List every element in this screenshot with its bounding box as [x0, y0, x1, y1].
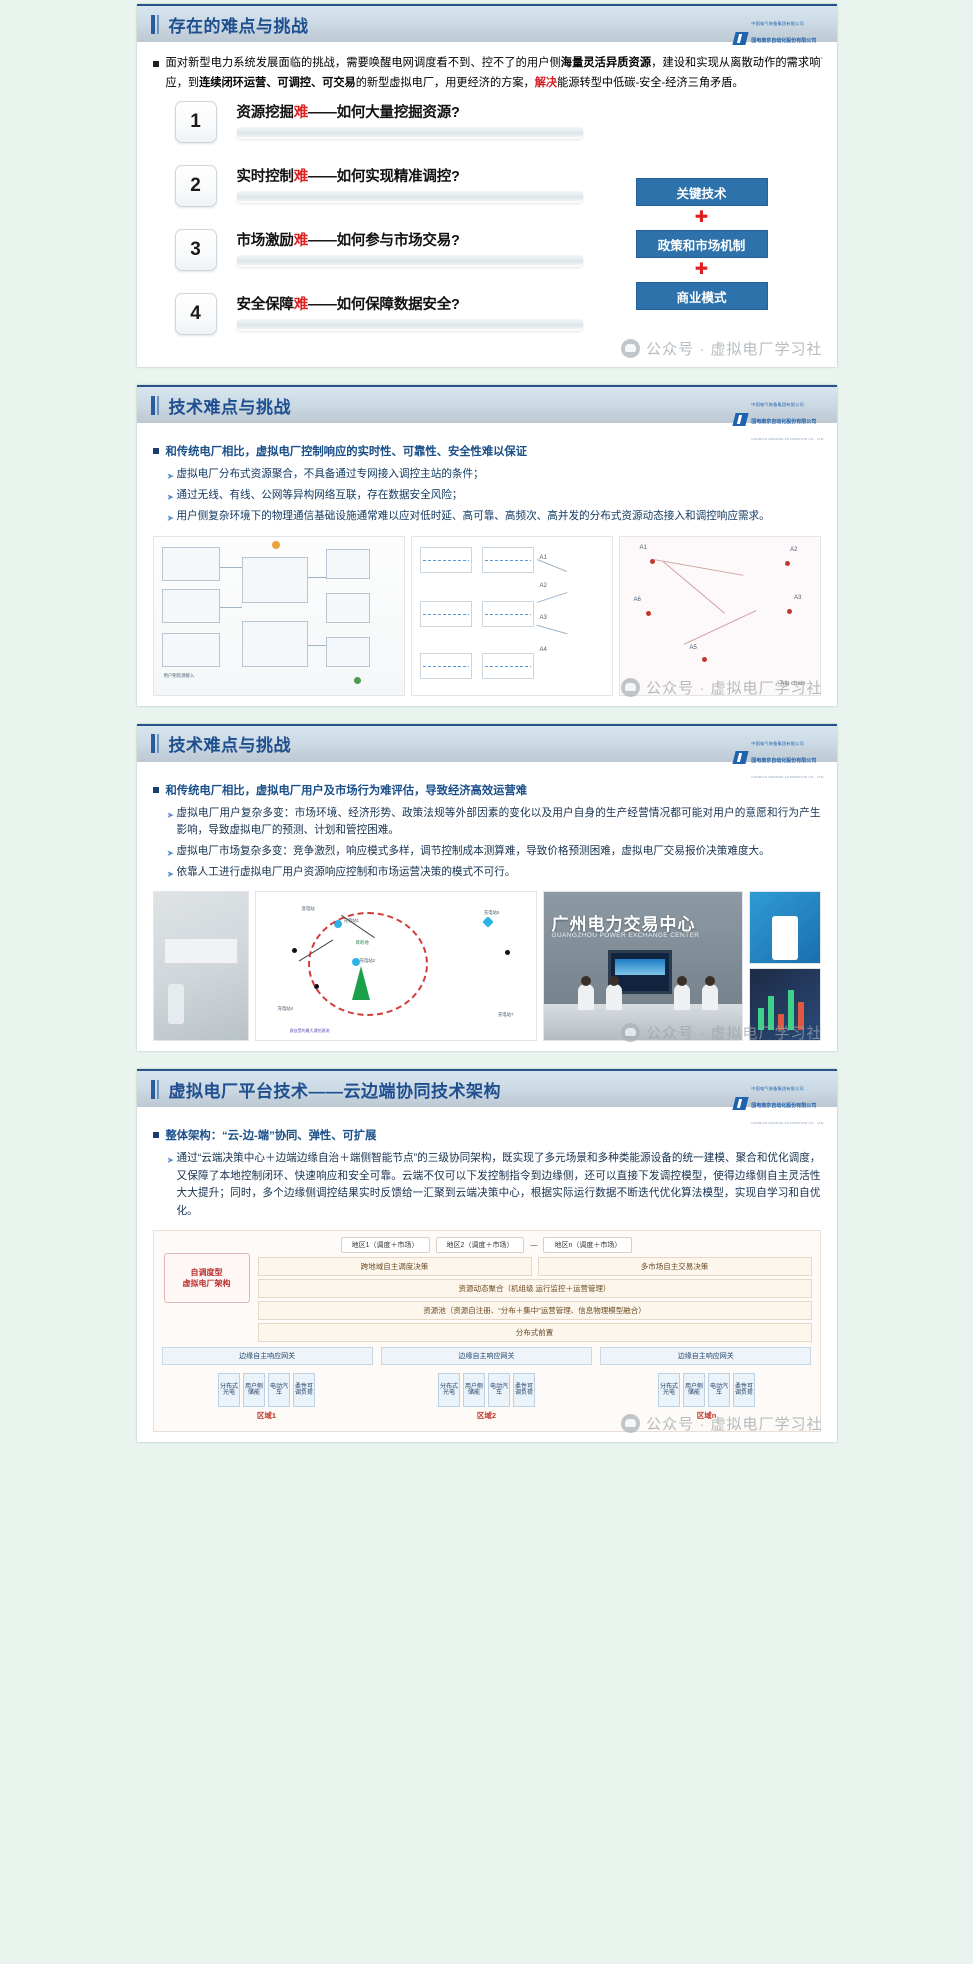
gz-subtitle-text: GUANGZHOU POWER EXCHANGE CENTER	[552, 932, 700, 939]
photo-air-conditioner	[153, 891, 249, 1041]
logo-line-1: 中国电气装备集团有限公司	[751, 21, 804, 26]
bullet-item: ➤ 虚拟电厂用户复杂多变：市场环境、经济形势、政策法规等外部因素的变化以及用户自…	[167, 805, 821, 840]
architecture-gateways: 边缘自主响应网关 边缘自主响应网关 边缘自主响应网关	[162, 1347, 812, 1365]
leaf-flex-load: 柔性可调负荷	[733, 1373, 755, 1407]
chevron-right-icon: ➤	[167, 1153, 177, 1220]
net-label-caption: 源自受的最大通怕源流	[290, 1028, 330, 1034]
chevron-right-icon: ➤	[167, 469, 177, 484]
zone-1: 区域1	[218, 1410, 315, 1421]
intro-bold-1: 海量灵活异质资源	[561, 57, 651, 69]
region-1: 地区1（调度＋市场）	[341, 1237, 430, 1253]
logo-line-1: 中国电气装备集团有限公司	[751, 741, 804, 746]
intro-red-1: 解决	[535, 77, 557, 89]
title-bars-icon	[151, 15, 161, 34]
architecture-leaves: 分布式光电 用户侧储能 电动汽车 柔性可调负荷 区域1 分布式光电 用户侧储能 …	[162, 1373, 812, 1421]
leaf-pv: 分布式光电	[438, 1373, 460, 1407]
pillar-policy-market: 政策和市场机制	[636, 230, 768, 258]
slide-deck-page: 存在的难点与挑战 中国电气装备集团有限公司 国电南京自动化股份有限公司 GUOD…	[0, 0, 973, 1964]
slide-header: 技术难点与挑战 中国电气装备集团有限公司 国电南京自动化股份有限公司 GUODI…	[137, 724, 837, 762]
bullet-text: 虚拟电厂分布式资源聚合，不具备通过专网接入调控主站的条件；	[177, 466, 484, 484]
bullet-text: 虚拟电厂用户复杂多变：市场环境、经济形势、政策法规等外部因素的变化以及用户自身的…	[177, 805, 821, 840]
slide-body: 和传统电厂相比，虚拟电厂控制响应的实时性、可靠性、安全性难以保证 ➤ 虚拟电厂分…	[137, 423, 837, 706]
arch-left-card: 自调度型 虚拟电厂架构	[164, 1253, 250, 1303]
bullet-item: ➤ 通过“云端决策中心＋边端边缘自治＋端侧智能节点”的三级协同架构，既实现了多元…	[167, 1150, 821, 1220]
title-bars-icon	[151, 396, 161, 415]
headline-key: 虚拟电厂控制响应的实时性、可靠性、安全性难以保证	[256, 446, 527, 458]
photo-market-chart	[749, 968, 821, 1041]
intro-seg-3: 的新型虚拟电厂，用更经济的方案，	[356, 77, 535, 89]
figure-trip-chain: A1 A2 A6 A3 A5 Trip chain	[619, 536, 821, 696]
bullet-text: 通过“云端决策中心＋边端边缘自治＋端侧智能节点”的三级协同架构，既实现了多元场景…	[177, 1150, 821, 1220]
bullet-text: 用户侧复杂环境下的物理通信基础设施通常难以应对低时延、高可靠、高频次、高并发的分…	[177, 508, 770, 526]
bullet-item: ➤ 依靠人工进行虚拟电厂用户资源响应控制和市场运营决策的模式不可行。	[167, 864, 821, 882]
arch-left-card-line2: 虚拟电厂架构	[183, 1278, 231, 1289]
net-label-station7: 充电站7	[498, 1012, 514, 1018]
pillar-stack: 关键技术 ✚ 政策和市场机制 ✚ 商业模式	[583, 101, 821, 357]
arch-cell-resource-aggregation: 资源动态聚合（机组级 运行监控＋运营管理）	[258, 1279, 812, 1298]
chevron-right-icon: ➤	[167, 511, 177, 526]
architecture-diagram: 地区1（调度＋市场） 地区2（调度＋市场） — 地区n（调度＋市场） 跨地域自主…	[153, 1230, 821, 1432]
list-item: 4 安全保障难——如何保障数据安全?	[175, 293, 583, 343]
square-bullet-icon	[153, 61, 159, 67]
chevron-right-icon: ➤	[167, 490, 177, 505]
node-label-a2: A2	[790, 547, 797, 553]
gz-person	[674, 984, 690, 1010]
node-label-a5: A5	[690, 645, 697, 651]
leaf-ev: 电动汽车	[708, 1373, 730, 1407]
item-bar	[237, 191, 583, 203]
item-label-post: ——如何保障数据安全?	[308, 297, 460, 313]
figure-sparkline-grid: A1 A2 A3 A4	[411, 536, 613, 696]
page-title: 存在的难点与挑战	[169, 12, 309, 37]
leaf-ev: 电动汽车	[488, 1373, 510, 1407]
gz-person	[606, 984, 622, 1010]
figure-strip: 用户侧资源接入 A1 A2 A3 A4	[153, 536, 821, 696]
headline: 和传统电厂相比，虚拟电厂用户及市场行为难评估，导致经济高效运营难	[153, 782, 821, 798]
gz-person	[702, 984, 718, 1010]
region-2: 地区2（调度＋市场）	[436, 1237, 525, 1253]
bullet-item: ➤ 通过无线、有线、公网等异构网络互联，存在数据安全风险；	[167, 487, 821, 505]
figure-charging-network: 变电站 充电站1 充电站2 充电站5 充电站7 充电站4 目的地 源自受的最大通…	[255, 891, 537, 1041]
pillar-key-technology: 关键技术	[636, 178, 768, 206]
square-bullet-icon	[153, 1132, 159, 1138]
bullet-text: 虚拟电厂市场复杂多变：竞争激烈，响应模式多样，调节控制成本测算难，导致价格预测困…	[177, 843, 770, 861]
page-title: 虚拟电厂平台技术——云边端协同技术架构	[169, 1077, 502, 1102]
node-label-a1: A1	[640, 545, 647, 551]
intro-seg-4: 能源转型中低碳-安全-经济三角矛盾。	[557, 77, 743, 89]
square-bullet-icon	[153, 787, 159, 793]
headline-prefix: 和传统电厂相比，	[166, 446, 256, 458]
item-label-hard: 难	[294, 233, 308, 249]
intro-paragraph: 面对新型电力系统发展面临的挑战，需要唤醒电网调度看不到、控不了的用户侧海量灵活异…	[153, 54, 821, 93]
slide-technical-challenges-1: 技术难点与挑战 中国电气装备集团有限公司 国电南京自动化股份有限公司 GUODI…	[137, 385, 837, 706]
logo-line-1: 中国电气装备集团有限公司	[751, 1086, 804, 1091]
architecture-decision-row: 跨地域自主调度决策 多市场自主交易决策	[258, 1257, 812, 1276]
item-number: 2	[175, 165, 217, 207]
chevron-right-icon: ➤	[167, 808, 177, 840]
leaf-pv: 分布式光电	[218, 1373, 240, 1407]
headline-prefix: 整体架构：	[166, 1130, 223, 1142]
slide-body: 和传统电厂相比，虚拟电厂用户及市场行为难评估，导致经济高效运营难 ➤ 虚拟电厂用…	[137, 762, 837, 1052]
title-bars-icon	[151, 734, 161, 753]
item-label-pre: 市场激励	[237, 233, 294, 249]
item-bar	[237, 319, 583, 331]
item-label-post: ——如何实现精准调控?	[308, 169, 460, 185]
zone-n: 区域n	[658, 1410, 755, 1421]
headline: 整体架构：“云-边-端”协同、弹性、可扩展	[153, 1127, 821, 1143]
leaf-flex-load: 柔性可调负荷	[513, 1373, 535, 1407]
item-label: 资源挖掘难——如何大量挖掘资源?	[237, 101, 583, 122]
page-title: 技术难点与挑战	[169, 731, 292, 756]
node-label-a3: A3	[540, 615, 547, 621]
slide-header: 技术难点与挑战 中国电气装备集团有限公司 国电南京自动化股份有限公司 GUODI…	[137, 385, 837, 423]
item-label-hard: 难	[294, 297, 308, 313]
chevron-right-icon: ➤	[167, 867, 177, 882]
leaf-storage: 用户侧储能	[463, 1373, 485, 1407]
photo-column	[749, 891, 821, 1041]
arch-cell-resource-pool: 资源池（资源自注册、“分布＋集中”运营管理、信息物理模型融合）	[258, 1301, 812, 1320]
logo-line-1: 中国电气装备集团有限公司	[751, 402, 804, 407]
slide-cloud-edge-architecture: 虚拟电厂平台技术——云边端协同技术架构 中国电气装备集团有限公司 国电南京自动化…	[137, 1069, 837, 1442]
headline: 和传统电厂相比，虚拟电厂控制响应的实时性、可靠性、安全性难以保证	[153, 443, 821, 459]
leaf-storage: 用户侧储能	[683, 1373, 705, 1407]
node-label-a6: A6	[634, 597, 641, 603]
net-label-station5: 充电站5	[484, 910, 500, 916]
list-item: 2 实时控制难——如何实现精准调控?	[175, 165, 583, 215]
zone-2: 区域2	[438, 1410, 535, 1421]
gateway-2: 边缘自主响应网关	[381, 1347, 592, 1365]
item-label-hard: 难	[294, 169, 308, 185]
headline-prefix: 和传统电厂相比，	[166, 785, 256, 797]
challenge-list: 1 资源挖掘难——如何大量挖掘资源? 2 实时控制难——如何实现精准调控?	[153, 101, 583, 357]
item-number: 1	[175, 101, 217, 143]
node-label-a2: A2	[540, 583, 547, 589]
leaf-flex-load: 柔性可调负荷	[293, 1373, 315, 1407]
item-label: 市场激励难——如何参与市场交易?	[237, 229, 583, 250]
chevron-right-icon: ➤	[167, 846, 177, 861]
slide-body: 面对新型电力系统发展面临的挑战，需要唤醒电网调度看不到、控不了的用户侧海量灵活异…	[137, 42, 837, 367]
bullet-item: ➤ 虚拟电厂分布式资源聚合，不具备通过专网接入调控主站的条件；	[167, 466, 821, 484]
region-ellipsis: —	[530, 1242, 537, 1249]
figure-caption: Trip chain	[779, 681, 805, 687]
leaf-pv: 分布式光电	[658, 1373, 680, 1407]
item-bar	[237, 127, 583, 139]
headline-key: “云-边-端”协同、弹性、可扩展	[222, 1130, 376, 1142]
slide-header: 虚拟电厂平台技术——云边端协同技术架构 中国电气装备集团有限公司 国电南京自动化…	[137, 1069, 837, 1107]
leaf-storage: 用户侧储能	[243, 1373, 265, 1407]
gateway-3: 边缘自主响应网关	[600, 1347, 811, 1365]
headline-key: 虚拟电厂用户及市场行为难评估，导致经济高效运营难	[256, 785, 527, 797]
intro-seg-1: 面对新型电力系统发展面临的挑战，需要唤醒电网调度看不到、控不了的用户侧	[166, 57, 561, 69]
arch-cell-multi-market: 多市场自主交易决策	[538, 1257, 812, 1276]
slide-body: 整体架构：“云-边-端”协同、弹性、可扩展 ➤ 通过“云端决策中心＋边端边缘自治…	[137, 1107, 837, 1442]
photo-guangzhou-exchange-center: 广州电力交易中心 GUANGZHOU POWER EXCHANGE CENTER	[543, 891, 743, 1041]
item-label-pre: 实时控制	[237, 169, 294, 185]
arch-cell-distributed-frontend: 分布式前置	[258, 1323, 812, 1342]
intro-bold-2: 连续闭环运营、可调控、可交易	[199, 77, 356, 89]
node-label-a3: A3	[794, 595, 801, 601]
item-label: 实时控制难——如何实现精准调控?	[237, 165, 583, 186]
item-label: 安全保障难——如何保障数据安全?	[237, 293, 583, 314]
item-label-pre: 资源挖掘	[237, 105, 294, 121]
net-label-station4: 充电站4	[278, 1006, 294, 1012]
gz-person	[578, 984, 594, 1010]
item-label-post: ——如何大量挖掘资源?	[308, 105, 460, 121]
bullet-text: 依靠人工进行虚拟电厂用户资源响应控制和市场运营决策的模式不可行。	[177, 864, 516, 882]
list-item: 1 资源挖掘难——如何大量挖掘资源?	[175, 101, 583, 151]
leaf-ev: 电动汽车	[268, 1373, 290, 1407]
item-label-hard: 难	[294, 105, 308, 121]
square-bullet-icon	[153, 448, 159, 454]
plus-icon: ✚	[695, 262, 708, 278]
slide-header: 存在的难点与挑战 中国电气装备集团有限公司 国电南京自动化股份有限公司 GUOD…	[137, 4, 837, 42]
bullet-item: ➤ 用户侧复杂环境下的物理通信基础设施通常难以应对低时延、高可靠、高频次、高并发…	[167, 508, 821, 526]
net-label-substation: 变电站	[302, 906, 315, 912]
figure-network-topology: 用户侧资源接入	[153, 536, 405, 696]
photo-mobile-app	[749, 891, 821, 964]
bullet-text: 通过无线、有线、公网等异构网络互联，存在数据安全风险；	[177, 487, 463, 505]
node-label-a4: A4	[540, 647, 547, 653]
list-item: 3 市场激励难——如何参与市场交易?	[175, 229, 583, 279]
plus-icon: ✚	[695, 210, 708, 226]
gateway-1: 边缘自主响应网关	[162, 1347, 373, 1365]
slide-technical-challenges-2: 技术难点与挑战 中国电气装备集团有限公司 国电南京自动化股份有限公司 GUODI…	[137, 724, 837, 1052]
item-number: 3	[175, 229, 217, 271]
arch-cell-cross-region: 跨地域自主调度决策	[258, 1257, 532, 1276]
title-bars-icon	[151, 1080, 161, 1099]
slide-existing-challenges: 存在的难点与挑战 中国电气装备集团有限公司 国电南京自动化股份有限公司 GUOD…	[137, 4, 837, 367]
page-title: 技术难点与挑战	[169, 393, 292, 418]
arch-left-card-line1: 自调度型	[191, 1267, 223, 1278]
item-label-post: ——如何参与市场交易?	[308, 233, 460, 249]
pillar-business-model: 商业模式	[636, 282, 768, 310]
bullet-item: ➤ 虚拟电厂市场复杂多变：竞争激烈，响应模式多样，调节控制成本测算难，导致价格预…	[167, 843, 821, 861]
item-number: 4	[175, 293, 217, 335]
figure-strip: 变电站 充电站1 充电站2 充电站5 充电站7 充电站4 目的地 源自受的最大通…	[153, 891, 821, 1041]
region-n: 地区n（调度＋市场）	[543, 1237, 632, 1253]
item-bar	[237, 255, 583, 267]
architecture-regions: 地区1（调度＋市场） 地区2（调度＋市场） — 地区n（调度＋市场）	[162, 1237, 812, 1253]
item-label-pre: 安全保障	[237, 297, 294, 313]
